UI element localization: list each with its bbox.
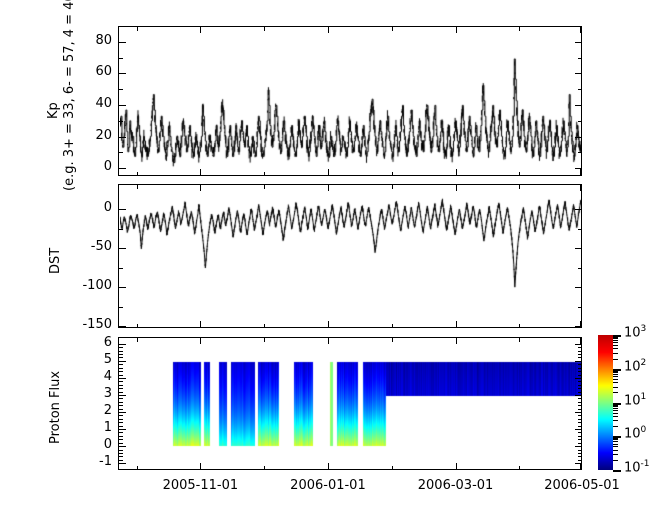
colorbar-minor-tick (613, 382, 618, 383)
tick-mark (119, 152, 123, 153)
tick-mark (575, 105, 581, 106)
tick-mark (578, 375, 582, 376)
tick-mark (575, 42, 581, 43)
tick-mark (137, 27, 138, 31)
tick-mark (119, 105, 126, 106)
colorbar-tick-label: 100 (624, 425, 646, 441)
tick-mark (578, 371, 582, 372)
tick-mark (578, 392, 582, 393)
colorbar-minor-tick (613, 405, 618, 406)
tick-mark (578, 351, 582, 352)
colorbar-minor-tick (613, 392, 618, 393)
x-tick-label: 2005-11-01 (150, 478, 250, 493)
tick-mark (137, 338, 138, 342)
tick-mark (575, 137, 581, 138)
y-tick-label: 20 (95, 128, 112, 143)
y-tick-label: 5 (104, 352, 112, 367)
proton-flux-heatmap-canvas (120, 339, 581, 469)
tick-mark (580, 338, 581, 344)
tick-mark (578, 460, 582, 461)
tick-mark (578, 426, 582, 427)
tick-mark (119, 405, 123, 406)
tick-mark (119, 168, 126, 169)
tick-mark (119, 268, 123, 269)
tick-mark (119, 415, 123, 416)
tick-mark (200, 169, 201, 176)
tick-mark (119, 326, 126, 327)
tick-mark (575, 429, 581, 430)
tick-mark (200, 321, 201, 328)
tick-mark (119, 402, 123, 403)
tick-mark (392, 172, 393, 176)
tick-mark (456, 463, 457, 470)
tick-mark (264, 172, 265, 176)
colorbar-minor-tick (613, 444, 618, 445)
tick-mark (119, 419, 123, 420)
tick-mark (119, 137, 126, 138)
tick-mark (575, 378, 581, 379)
colorbar-minor-tick (613, 353, 618, 354)
colorbar-minor-tick (613, 342, 618, 343)
tick-mark (119, 361, 126, 362)
tick-mark (328, 169, 329, 176)
tick-mark (580, 463, 581, 470)
tick-mark (578, 307, 582, 308)
tick-mark (200, 185, 201, 191)
tick-mark (119, 385, 123, 386)
tick-mark (578, 450, 582, 451)
colorbar-minor-tick (613, 359, 618, 360)
y-tick-label: 3 (104, 386, 112, 401)
colorbar-minor-tick (613, 446, 618, 447)
tick-mark (119, 58, 123, 59)
tick-mark (578, 432, 582, 433)
tick-mark (119, 443, 123, 444)
colorbar-tick-label: 102 (624, 358, 646, 374)
y-tick-label: -50 (91, 239, 112, 254)
tick-mark (119, 42, 126, 43)
colorbar-minor-tick (613, 438, 618, 439)
tick-mark (328, 321, 329, 328)
tick-mark (456, 185, 457, 191)
x-tick-label: 2006-05-01 (532, 478, 632, 493)
colorbar-tick-label: 10-1 (624, 459, 650, 475)
tick-mark (578, 409, 582, 410)
tick-mark (578, 419, 582, 420)
tick-mark (519, 185, 520, 189)
tick-mark (578, 415, 582, 416)
y-tick-label: 4 (104, 369, 112, 384)
tick-mark (578, 422, 582, 423)
tick-mark (119, 429, 126, 430)
tick-mark (328, 27, 329, 33)
tick-mark (578, 388, 582, 389)
tick-mark (119, 354, 123, 355)
colorbar-minor-tick (613, 376, 618, 377)
y-tick-label: 0 (104, 437, 112, 452)
tick-mark (119, 392, 123, 393)
tick-mark (392, 27, 393, 31)
tick-mark (264, 466, 265, 470)
tick-mark (119, 453, 123, 454)
tick-mark (575, 446, 581, 447)
tick-mark (580, 169, 581, 176)
tick-mark (578, 58, 582, 59)
tick-mark (575, 344, 581, 345)
colorbar-minor-tick (613, 441, 618, 442)
tick-mark (575, 248, 581, 249)
colorbar-minor-tick (613, 450, 618, 451)
tick-mark (578, 121, 582, 122)
tick-mark (119, 395, 126, 396)
tick-mark (264, 324, 265, 328)
y-tick-label: 80 (95, 33, 112, 48)
y-tick-label: -150 (82, 317, 112, 332)
tick-mark (119, 456, 123, 457)
tick-mark (200, 463, 201, 470)
colorbar-minor-tick (613, 340, 618, 341)
colorbar-minor-tick (613, 387, 618, 388)
colorbar-tick-label: 103 (624, 324, 646, 340)
tick-mark (578, 268, 582, 269)
tick-mark (119, 412, 126, 413)
colorbar-minor-tick (613, 371, 618, 372)
tick-mark (119, 364, 123, 365)
tick-mark (519, 324, 520, 328)
tick-mark (119, 89, 123, 90)
tick-mark (137, 324, 138, 328)
tick-mark (578, 89, 582, 90)
tick-mark (119, 378, 126, 379)
tick-mark (578, 385, 582, 386)
colorbar-minor-tick (613, 416, 618, 417)
colorbar-minor-tick (613, 454, 618, 455)
tick-mark (119, 463, 126, 464)
tick-mark (578, 453, 582, 454)
tick-mark (580, 185, 581, 191)
colorbar-minor-tick (613, 408, 618, 409)
tick-mark (392, 338, 393, 342)
tick-mark (580, 27, 581, 33)
colorbar-minor-tick (613, 410, 618, 411)
y-tick-label: 40 (95, 96, 112, 111)
colorbar-minor-tick (613, 345, 618, 346)
dst-series-canvas (120, 186, 581, 327)
kp-series-canvas (120, 28, 581, 175)
y-tick-label: 1 (104, 420, 112, 435)
tick-mark (119, 347, 123, 348)
tick-mark (200, 27, 201, 33)
x-tick-label: 2006-01-01 (278, 478, 378, 493)
tick-mark (578, 456, 582, 457)
tick-mark (200, 338, 201, 344)
tick-mark (119, 432, 123, 433)
tick-mark (119, 460, 123, 461)
tick-mark (580, 321, 581, 328)
tick-mark (578, 443, 582, 444)
tick-mark (119, 450, 123, 451)
tick-mark (578, 364, 582, 365)
tick-mark (575, 73, 581, 74)
colorbar-minor-tick (613, 413, 618, 414)
tick-mark (328, 338, 329, 344)
tick-mark (119, 388, 123, 389)
tick-mark (119, 287, 126, 288)
tick-mark (264, 338, 265, 342)
tick-mark (519, 338, 520, 342)
tick-mark (119, 436, 123, 437)
y-tick-label: -1 (99, 454, 112, 469)
tick-mark (119, 422, 123, 423)
tick-mark (575, 287, 581, 288)
tick-mark (575, 209, 581, 210)
colorbar-tick-label: 101 (624, 392, 646, 408)
tick-mark (519, 172, 520, 176)
tick-mark (137, 466, 138, 470)
dst-axis-label: DST (48, 248, 63, 274)
tick-mark (578, 357, 582, 358)
tick-mark (578, 436, 582, 437)
kp-axis-sublabel: (e.g. 3+ = 33, 6- = 57, 4 = 40, etc.) (62, 0, 77, 191)
tick-mark (456, 338, 457, 344)
tick-mark (119, 73, 126, 74)
tick-mark (137, 172, 138, 176)
tick-mark (456, 169, 457, 176)
tick-mark (519, 466, 520, 470)
colorbar-gradient (598, 335, 613, 470)
colorbar-minor-tick (613, 379, 618, 380)
tick-mark (119, 307, 123, 308)
colorbar-minor-tick (613, 348, 618, 349)
tick-mark (575, 361, 581, 362)
tick-mark (578, 229, 582, 230)
tick-mark (519, 27, 520, 31)
tick-mark (264, 185, 265, 189)
tick-mark (119, 229, 123, 230)
colorbar-minor-tick (613, 337, 618, 338)
tick-mark (328, 463, 329, 470)
colorbar-minor-tick (613, 420, 618, 421)
tick-mark (392, 466, 393, 470)
tick-mark (119, 398, 123, 399)
tick-mark (119, 409, 123, 410)
tick-mark (119, 446, 126, 447)
tick-mark (119, 357, 123, 358)
tick-mark (578, 439, 582, 440)
tick-mark (119, 344, 126, 345)
y-tick-label: 0 (104, 159, 112, 174)
tick-mark (119, 351, 123, 352)
colorbar-minor-tick (613, 460, 618, 461)
colorbar-major-tick (613, 470, 621, 472)
tick-mark (575, 395, 581, 396)
tick-mark (392, 185, 393, 189)
tick-mark (578, 405, 582, 406)
tick-mark (392, 324, 393, 328)
tick-mark (575, 412, 581, 413)
colorbar-minor-tick (613, 374, 618, 375)
tick-mark (119, 426, 123, 427)
tick-mark (578, 152, 582, 153)
tick-mark (578, 402, 582, 403)
tick-mark (137, 185, 138, 189)
tick-mark (328, 185, 329, 191)
y-tick-label: -100 (82, 278, 112, 293)
y-tick-label: 6 (104, 335, 112, 350)
tick-mark (456, 321, 457, 328)
tick-mark (578, 368, 582, 369)
tick-mark (119, 371, 123, 372)
tick-mark (119, 381, 123, 382)
tick-mark (119, 439, 123, 440)
colorbar-minor-tick (613, 426, 618, 427)
x-tick-label: 2006-03-01 (406, 478, 506, 493)
tick-mark (119, 121, 123, 122)
tick-mark (578, 381, 582, 382)
tick-mark (578, 398, 582, 399)
tick-mark (264, 27, 265, 31)
figure-root: 020406080 Kp (e.g. 3+ = 33, 6- = 57, 4 =… (0, 0, 665, 523)
tick-mark (119, 209, 126, 210)
y-tick-label: 2 (104, 403, 112, 418)
tick-mark (119, 368, 123, 369)
kp-axis-label: Kp (46, 102, 61, 119)
tick-mark (456, 27, 457, 33)
y-tick-label: 60 (95, 64, 112, 79)
tick-mark (119, 375, 123, 376)
tick-mark (578, 347, 582, 348)
proton-flux-axis-label: Proton Flux (48, 370, 63, 443)
tick-mark (119, 248, 126, 249)
tick-mark (578, 354, 582, 355)
y-tick-label: 0 (104, 200, 112, 215)
